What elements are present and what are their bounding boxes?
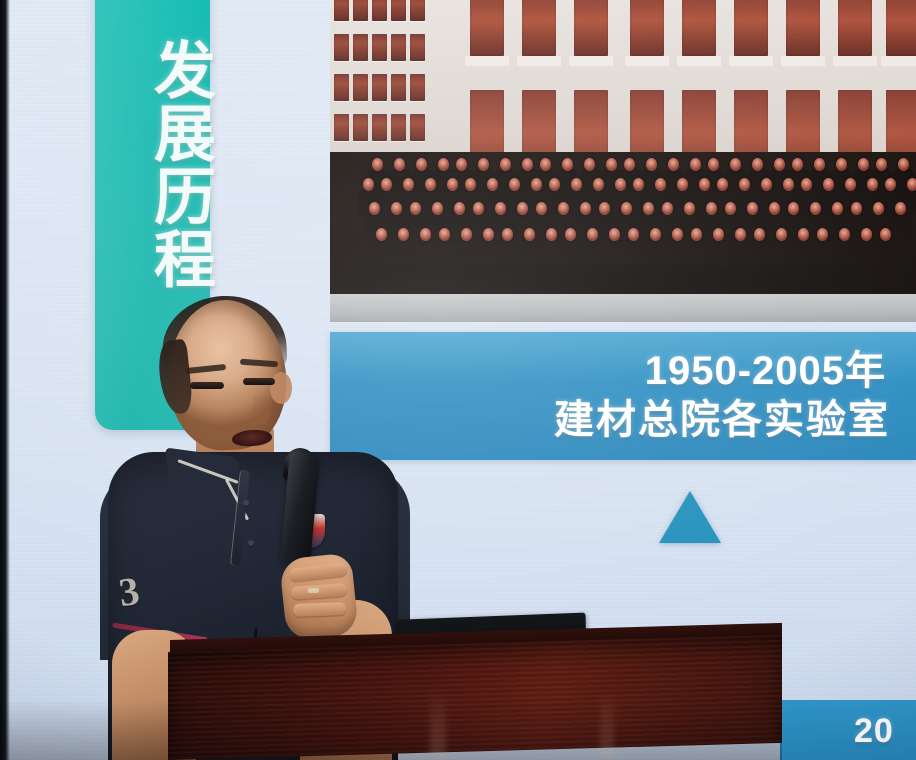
speaker-eye-right: [243, 378, 275, 385]
speaker-shirt-button: [248, 540, 254, 546]
speaker-finger: [293, 602, 346, 617]
foreground-shadow: [0, 700, 782, 760]
screenshot-stage: 发展历程 1950-2005年 建材总院各实验室 20 3: [0, 0, 916, 760]
speaker-shirt-button: [243, 500, 249, 506]
speaker-eye-left: [190, 382, 224, 389]
speaker-nose: [253, 390, 271, 424]
speaker-ear: [270, 372, 292, 404]
speaker-ring: [308, 588, 319, 593]
